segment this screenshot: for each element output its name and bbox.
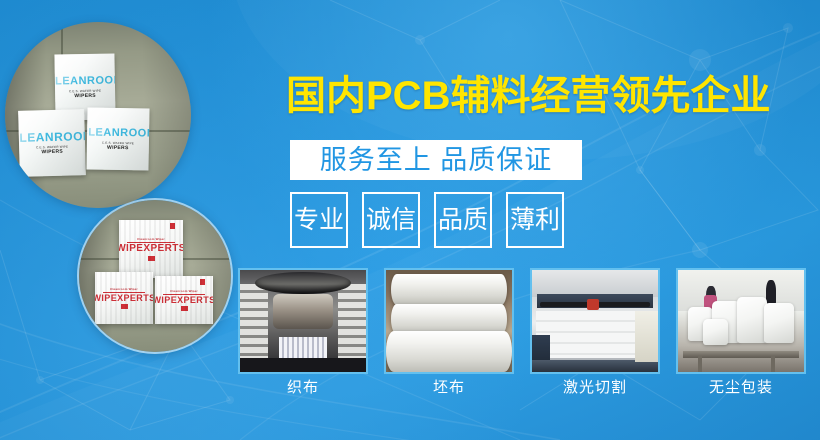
machine-panel-right xyxy=(635,311,658,362)
packed-bag xyxy=(703,319,728,346)
keyword-tag-label: 品质 xyxy=(438,208,488,233)
machine-hub xyxy=(273,294,333,329)
thumbnail-label: 无尘包装 xyxy=(676,380,806,395)
keyword-tag-label: 薄利 xyxy=(510,208,560,233)
machine-base xyxy=(240,358,366,372)
wipexperts-pack-top: Cleanroom Wiper xyxy=(137,237,165,241)
pack-logo-mark xyxy=(121,304,128,309)
room-wall xyxy=(532,270,658,297)
promotional-banner: CLEANROOM C.E.S. WAFER WIPE WIPERS CLEAN… xyxy=(0,0,820,440)
cleanroom-pack: CLEANROOM C.E.S. WAFER WIPE WIPERS xyxy=(86,107,149,170)
thumbnail-label: 织布 xyxy=(238,380,368,395)
table-leg xyxy=(771,356,775,372)
fabric-roll xyxy=(391,274,507,305)
wipexperts-pack: Cleanroom Wiper WIPEXPERTS xyxy=(95,272,153,324)
pack-logo-mark xyxy=(148,256,155,261)
pack-logo-mark xyxy=(181,306,188,311)
product-photo-cleanroom-wipes: CLEANROOM C.E.S. WAFER WIPE WIPERS CLEAN… xyxy=(5,22,191,208)
laser-head xyxy=(587,299,598,310)
keyword-tag-list: 专业 诚信 品质 薄利 xyxy=(290,192,564,248)
cleanroom-pack-brand: CLEANROOM xyxy=(18,130,86,144)
cleanroom-pack-brand: CLEANROOM xyxy=(54,75,115,87)
wipexperts-pack-top: Cleanroom Wiper xyxy=(110,287,138,291)
process-thumbnail-cleanroom-packing[interactable]: 无尘包装 xyxy=(676,268,806,395)
wipexperts-pack-brand: WIPEXPERTS xyxy=(95,294,153,303)
product-photo-wipexperts: Cleanroom Wiper WIPEXPERTS Cleanroom Wip… xyxy=(77,198,233,354)
thumbnail-label: 激光切割 xyxy=(530,380,660,395)
subtitle-text: 服务至上 品质保证 xyxy=(320,147,553,174)
packed-bag xyxy=(764,303,794,344)
fabric-roll xyxy=(391,304,507,335)
yarn-spools-right xyxy=(338,284,366,357)
laser-cutting-photo xyxy=(532,270,658,372)
cleanroom-pack-brand: CLEANROOM xyxy=(86,127,149,139)
cleanroom-pack-line2: WIPERS xyxy=(41,149,63,156)
wipexperts-pack-brand: WIPEXPERTS xyxy=(119,244,183,255)
cleanroom-pack-line2: WIPERS xyxy=(74,92,96,98)
keyword-tag-pinzhi[interactable]: 品质 xyxy=(434,192,492,248)
knitted-fabric xyxy=(279,337,327,359)
yarn-spools-left xyxy=(240,284,268,357)
process-thumbnail-weaving[interactable]: 织布 xyxy=(238,268,368,395)
pack-seal xyxy=(200,279,205,285)
cleanroom-packing-photo xyxy=(678,270,804,372)
subtitle-bar: 服务至上 品质保证 xyxy=(290,140,582,180)
keyword-tag-label: 诚信 xyxy=(366,208,416,233)
thumbnail-label: 坯布 xyxy=(384,380,514,395)
keyword-tag-chengxin[interactable]: 诚信 xyxy=(362,192,420,248)
fabric-rolls-photo xyxy=(386,270,512,372)
pack-sheen xyxy=(86,107,149,170)
keyword-tag-zhuanye[interactable]: 专业 xyxy=(290,192,348,248)
thumbnail-image-frame xyxy=(676,268,806,374)
packed-bag xyxy=(737,297,767,344)
cleanroom-pack-line2: WIPERS xyxy=(107,144,129,150)
banner-headline: 国内PCB辅料经营领先企业 xyxy=(286,76,770,116)
knitting-machine-photo xyxy=(240,270,366,372)
process-thumbnail-laser-cutting[interactable]: 激光切割 xyxy=(530,268,660,395)
wipexperts-pack-brand: WIPEXPERTS xyxy=(155,296,213,305)
keyword-tag-label: 专业 xyxy=(294,208,344,233)
thumbnail-image-frame xyxy=(238,268,368,374)
wipexperts-pack: Cleanroom Wiper WIPEXPERTS xyxy=(119,220,183,278)
wipexperts-pack-top: Cleanroom Wiper xyxy=(170,289,198,293)
process-thumbnail-greige-fabric[interactable]: 坯布 xyxy=(384,268,514,395)
table-leg xyxy=(698,356,702,372)
machine-ring xyxy=(255,272,351,294)
wipexperts-pack: Cleanroom Wiper WIPEXPERTS xyxy=(155,276,213,324)
thumbnail-image-frame xyxy=(530,268,660,374)
keyword-tag-baoli[interactable]: 薄利 xyxy=(506,192,564,248)
pack-seal xyxy=(170,223,175,229)
cleanroom-pack: CLEANROOM C.E.S. WAFER WIPE WIPERS xyxy=(18,109,86,177)
process-thumbnail-list: 织布 坯布 xyxy=(238,268,806,395)
thumbnail-image-frame xyxy=(384,268,514,374)
fabric-roll xyxy=(386,331,512,372)
